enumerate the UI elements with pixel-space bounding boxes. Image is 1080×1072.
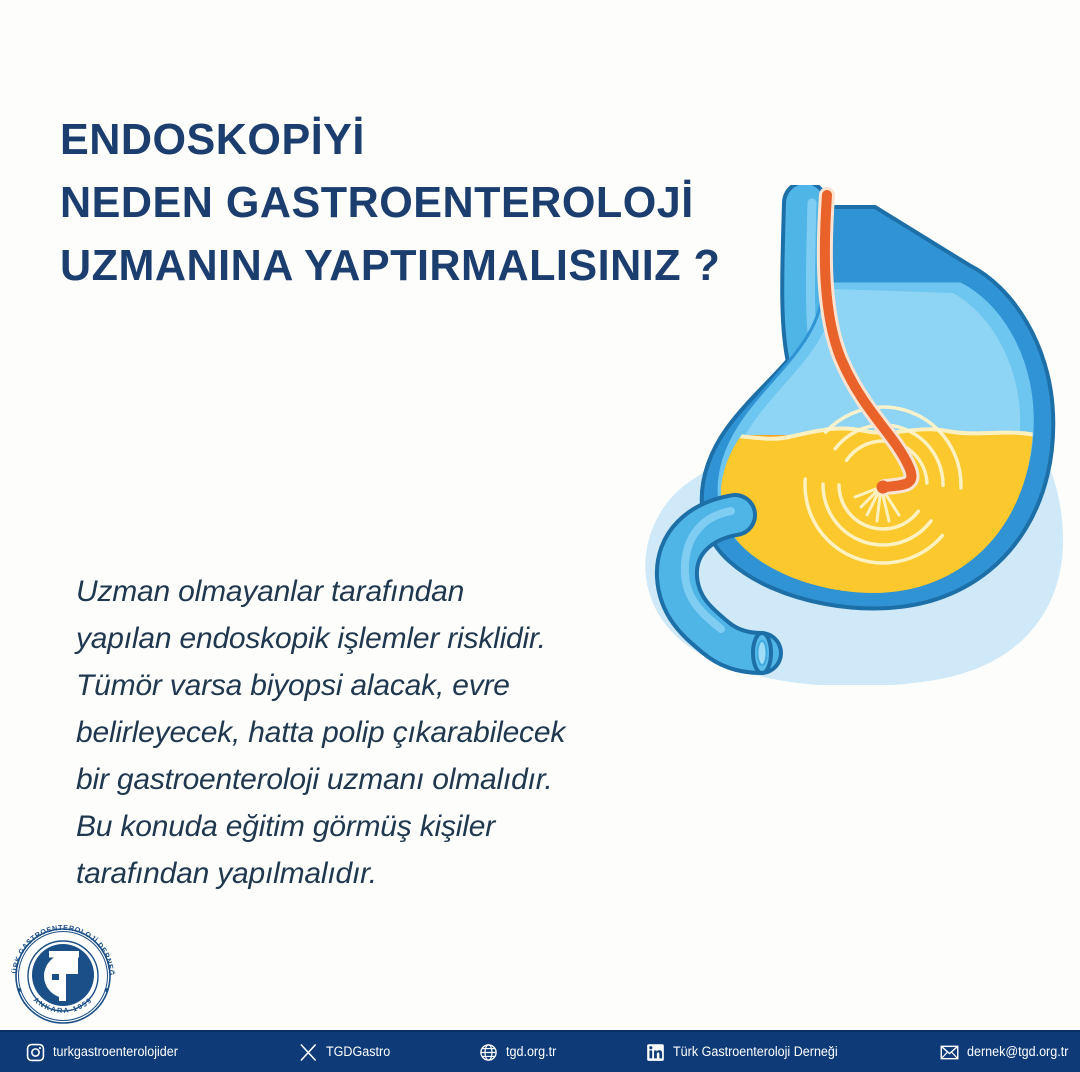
- footer-item-email[interactable]: dernek@tgd.org.tr: [940, 1043, 1076, 1062]
- footer-label-linkedin: Türk Gastroenteroloji Derneği: [673, 1045, 838, 1059]
- body-line-6: Bu konuda eğitim görmüş kişiler: [76, 803, 676, 850]
- footer-label-x-twitter: TGDGastro: [326, 1045, 390, 1059]
- organization-logo: TÜRK GASTROENTEROLOJİ DERNEĞİ ANKARA 195…: [4, 918, 122, 1030]
- page-title: ENDOSKOPİYİ NEDEN GASTROENTEROLOJİ UZMAN…: [60, 108, 820, 297]
- body-line-3: Tümör varsa biyopsi alacak, evre: [76, 662, 676, 709]
- body-line-7: tarafından yapılmalıdır.: [76, 850, 676, 897]
- globe-icon: [479, 1043, 498, 1062]
- linkedin-icon: [646, 1043, 665, 1062]
- poster-canvas: ENDOSKOPİYİ NEDEN GASTROENTEROLOJİ UZMAN…: [0, 0, 1080, 1072]
- body-paragraph: Uzman olmayanlar tarafından yapılan endo…: [76, 568, 676, 897]
- body-line-1: Uzman olmayanlar tarafından: [76, 568, 676, 615]
- headline-line-2: NEDEN GASTROENTEROLOJİ: [60, 171, 805, 234]
- body-line-2: yapılan endoskopik işlemler risklidir.: [76, 615, 676, 662]
- body-line-5: bir gastroenteroloji uzmanı olmalıdır.: [76, 756, 676, 803]
- footer-label-email: dernek@tgd.org.tr: [967, 1045, 1068, 1059]
- footer-item-website[interactable]: tgd.org.tr: [479, 1043, 560, 1062]
- x-twitter-icon: [299, 1043, 318, 1062]
- logo-monogram: [32, 944, 94, 1006]
- headline-line-1: ENDOSKOPİYİ: [60, 108, 805, 171]
- footer-label-instagram: turkgastroenterolojider: [53, 1045, 178, 1059]
- footer-bar: turkgastroenterolojider TGDGastro tgd.or…: [0, 1030, 1080, 1072]
- footer-item-linkedin[interactable]: Türk Gastroenteroloji Derneği: [646, 1043, 850, 1062]
- footer-item-instagram[interactable]: turkgastroenterolojider: [26, 1043, 187, 1062]
- email-icon: [940, 1043, 959, 1062]
- footer-item-x-twitter[interactable]: TGDGastro: [299, 1043, 395, 1062]
- headline-line-3: UZMANINA YAPTIRMALISINIZ ?: [60, 234, 805, 297]
- body-line-4: belirleyecek, hatta polip çıkarabilecek: [76, 709, 676, 756]
- footer-label-website: tgd.org.tr: [506, 1045, 556, 1059]
- instagram-icon: [26, 1043, 45, 1062]
